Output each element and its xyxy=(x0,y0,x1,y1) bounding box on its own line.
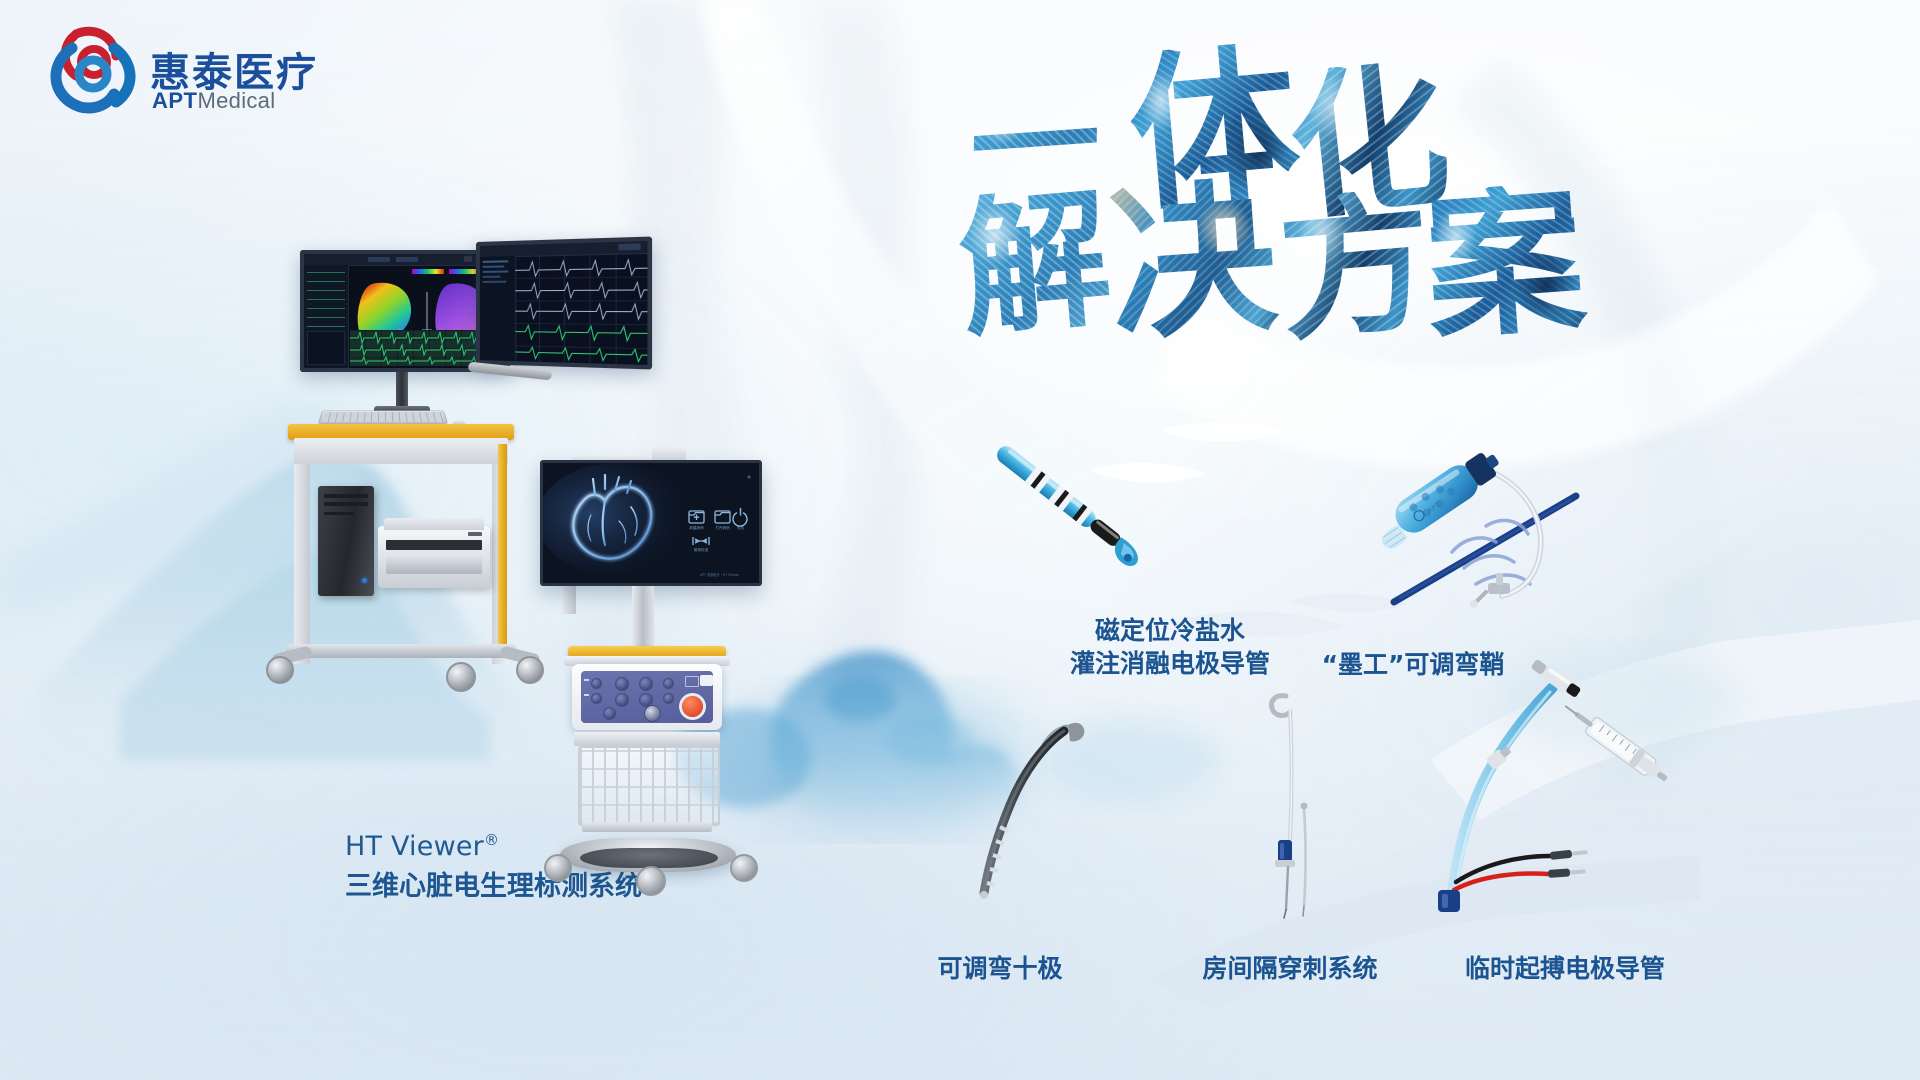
printer xyxy=(378,526,490,588)
ablation-catheter-icon xyxy=(970,440,1170,570)
monitor-ecg xyxy=(476,237,652,370)
heart-screen-footer: APT 惠泰医疗 · HT Viewer xyxy=(700,572,740,577)
monitor-bezel-right xyxy=(476,237,652,370)
trademark-symbol: ® xyxy=(484,831,499,849)
monitor-stand-post xyxy=(396,372,408,408)
headline-calligraphy: 一 体 化 解 决 方 案 xyxy=(960,40,1620,340)
cart-base xyxy=(286,644,516,658)
heart-btn-label-new: 新建病例 xyxy=(689,525,704,530)
brand-name-en: APTMedical xyxy=(152,88,275,114)
cart2-lower-shelf xyxy=(582,822,712,832)
cart-left-column xyxy=(294,464,310,664)
heart-display-screen: 新建病例 打开病例 关机 磁场校准 APT 惠泰医疗 · HT Viewer xyxy=(543,463,759,583)
headline-char-jie: 解 xyxy=(954,184,1117,347)
label-ablation-catheter-line1: 磁定位冷盐水 xyxy=(1070,614,1270,647)
apt-medical-rings-logo-icon xyxy=(42,22,142,114)
cart2-caster-front xyxy=(636,866,666,896)
label-decapolar-catheter-line1: 可调弯十极 xyxy=(937,952,1062,985)
label-ablation-catheter: 磁定位冷盐水 灌注消融电极导管 xyxy=(1070,614,1270,680)
label-transseptal-system-line1: 房间隔穿刺系统 xyxy=(1202,952,1377,985)
caster-wheel-left xyxy=(266,656,294,684)
control-box xyxy=(572,664,722,730)
heart-btn-label-open: 打开病例 xyxy=(715,525,730,530)
heart-display-monitor: 新建病例 打开病例 关机 磁场校准 APT 惠泰医疗 · HT Viewer xyxy=(540,460,762,586)
steerable-sheath-icon: APT xyxy=(1380,430,1640,620)
decapolar-catheter-icon xyxy=(940,715,1100,915)
headline-char-an: 案 xyxy=(1421,181,1590,350)
brand-name-en-light: Medical xyxy=(198,88,276,113)
label-transseptal-system: 房间隔穿刺系统 xyxy=(1202,952,1377,985)
transseptal-needle-icon xyxy=(1230,690,1350,920)
keyboard[interactable] xyxy=(318,410,448,424)
headline-char-fang: 方 xyxy=(1274,186,1439,351)
cart2-base-inset xyxy=(580,848,718,868)
caster-wheel-mid xyxy=(446,662,476,692)
system-name-en-text: HT Viewer xyxy=(345,831,484,862)
heart-btn-label-power: 关机 xyxy=(737,525,745,530)
label-pacing-catheter: 临时起搏电极导管 xyxy=(1465,952,1665,985)
poster-canvas: 惠泰医疗 APTMedical 一 体 化 解 决 方 案 xyxy=(0,0,1920,1080)
cart-top-shelf xyxy=(294,438,508,464)
label-decapolar-catheter: 可调弯十极 xyxy=(937,952,1062,985)
pacing-catheter-icon xyxy=(1400,660,1700,920)
cart2-caster-right xyxy=(730,854,758,882)
headline-char-jue: 决 xyxy=(1104,174,1281,351)
accessory-basket xyxy=(578,746,720,826)
cart2-mid-shelf xyxy=(574,732,720,746)
emergency-stop-button[interactable] xyxy=(682,696,703,717)
label-ablation-catheter-line2: 灌注消融电极导管 xyxy=(1070,647,1270,680)
cart2-caster-left xyxy=(544,854,572,882)
heart-display-cart: 新建病例 打开病例 关机 磁场校准 APT 惠泰医疗 · HT Viewer xyxy=(540,450,800,1010)
heart-btn-label-calib: 磁场校准 xyxy=(694,547,709,552)
label-pacing-catheter-line1: 临时起搏电极导管 xyxy=(1465,952,1665,985)
brand-logo: 惠泰医疗 APTMedical xyxy=(42,18,372,118)
cart-right-accent xyxy=(498,444,507,644)
brand-name-en-bold: APT xyxy=(152,88,198,113)
computer-tower xyxy=(318,486,374,596)
